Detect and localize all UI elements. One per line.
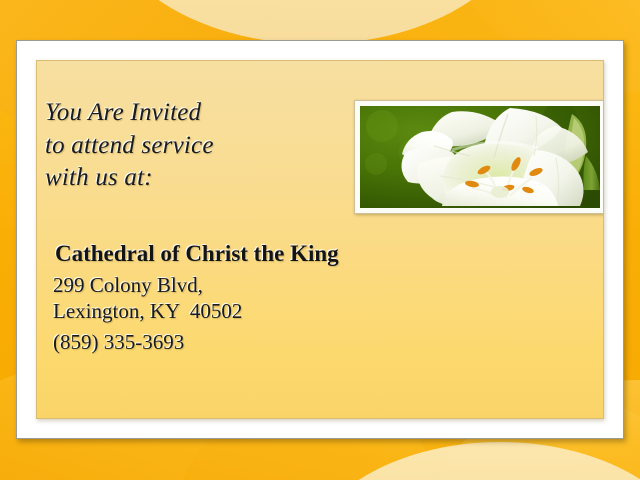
- address-line-1: 299 Colony Blvd,: [53, 273, 242, 299]
- lily-photo: [360, 106, 600, 208]
- invitation-slide: You Are Invited to attend service with u…: [0, 0, 640, 480]
- slide-content-panel: You Are Invited to attend service with u…: [36, 60, 604, 419]
- address-block: 299 Colony Blvd, Lexington, KY 40502: [53, 273, 242, 324]
- decorative-arc-bottom: [300, 442, 640, 480]
- lily-photo-artwork: [360, 106, 600, 208]
- phone-number: (859) 335-3693: [53, 330, 184, 355]
- headline-line-2: to attend service: [45, 130, 345, 163]
- headline-line-1: You Are Invited: [45, 97, 345, 130]
- organization-name: Cathedral of Christ the King: [55, 241, 339, 267]
- address-line-2: Lexington, KY 40502: [53, 299, 242, 325]
- invitation-headline: You Are Invited to attend service with u…: [45, 97, 345, 195]
- decorative-arc-top: [100, 0, 530, 44]
- headline-line-3: with us at:: [45, 162, 345, 195]
- lily-photo-frame: [354, 100, 604, 214]
